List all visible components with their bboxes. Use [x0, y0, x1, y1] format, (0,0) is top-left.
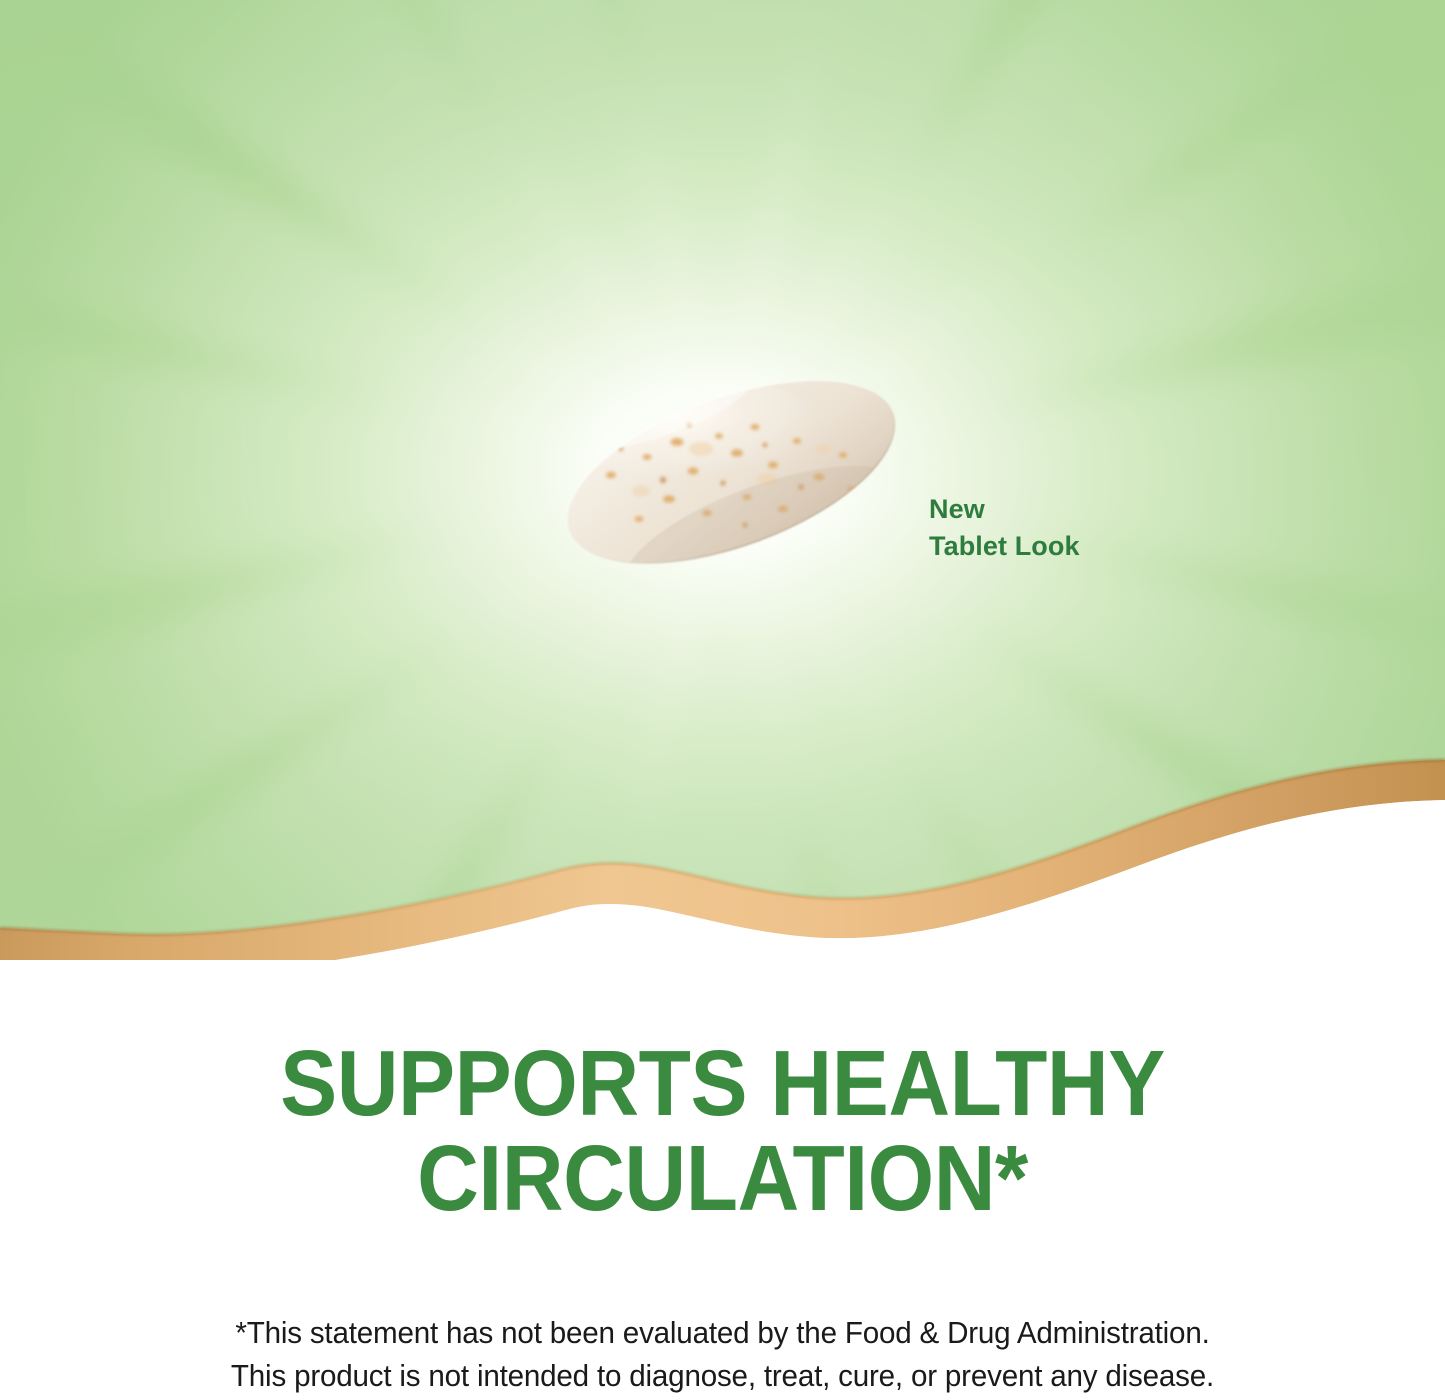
- tablet-image: [551, 379, 911, 565]
- hero-section: New Tablet Look: [0, 0, 1445, 960]
- headline-line-2: CIRCULATION*: [58, 1131, 1387, 1226]
- disclaimer-line-1: *This statement has not been evaluated b…: [22, 1312, 1424, 1355]
- product-banner-canvas: New Tablet Look SUPPORTS HEALTHY CIRCULA…: [0, 0, 1445, 1400]
- page-title: SUPPORTS HEALTHY CIRCULATION*: [0, 1036, 1445, 1226]
- headline-line-1: SUPPORTS HEALTHY: [58, 1036, 1387, 1131]
- tablet-svg: [551, 379, 911, 565]
- fda-disclaimer: *This statement has not been evaluated b…: [0, 1312, 1445, 1399]
- disclaimer-line-2: This product is not intended to diagnose…: [22, 1355, 1424, 1398]
- new-tablet-look-callout: New Tablet Look: [929, 491, 1080, 565]
